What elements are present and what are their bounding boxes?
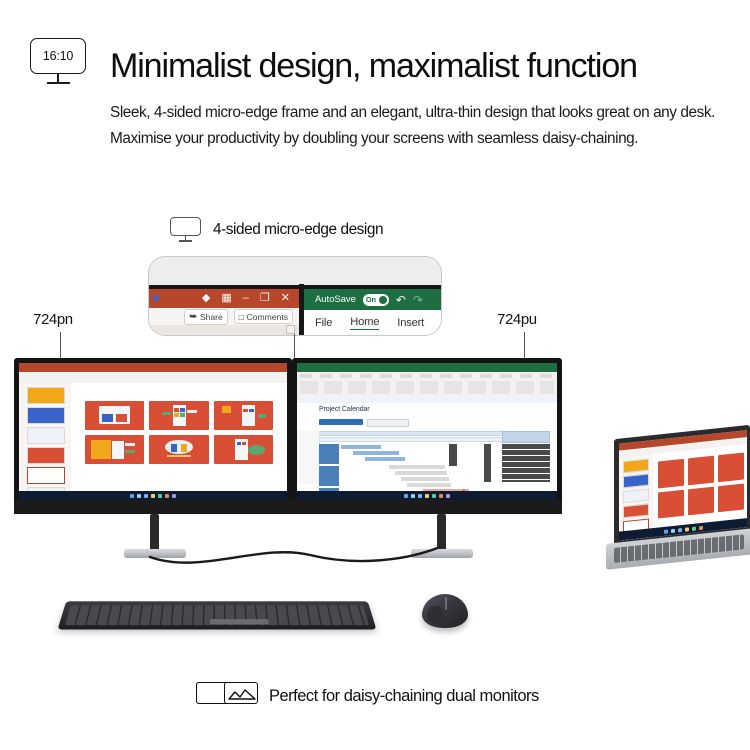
monitor-right-panel: Project Calendar <box>297 363 557 500</box>
laptop-lid <box>614 425 750 547</box>
slide-thumb[interactable] <box>658 489 684 518</box>
autosave-toggle[interactable]: On <box>363 294 389 306</box>
powerpoint-scroll-strip <box>149 325 299 335</box>
model-label-left: 724pn <box>33 311 73 328</box>
monitor-icon-screen <box>170 217 201 236</box>
slide-thumb[interactable] <box>214 401 273 430</box>
phase-one-label <box>319 444 339 464</box>
column-block <box>484 444 491 482</box>
phase-two-label <box>319 466 339 486</box>
footer-caption: Perfect for daisy-chaining dual monitors <box>196 682 539 710</box>
gantt-bar <box>389 465 445 469</box>
windows-taskbar[interactable] <box>297 491 557 500</box>
screen-excel: Project Calendar <box>297 363 557 500</box>
redo-icon[interactable]: ↷ <box>413 293 423 307</box>
list-item[interactable] <box>623 473 649 488</box>
monitor-right-chin <box>292 500 562 514</box>
slide-editor-area <box>71 383 287 490</box>
slide-thumb[interactable] <box>658 459 684 488</box>
mouse-scroll-wheel[interactable] <box>445 597 447 610</box>
slide-thumb[interactable] <box>85 401 144 430</box>
keyboard[interactable] <box>58 601 377 629</box>
page-description: Sleek, 4-sided micro-edge frame and an e… <box>110 100 720 151</box>
powerpoint-share-row: ⮩ Share □ Comments <box>149 308 299 325</box>
micro-edge-label-text: 4-sided micro-edge design <box>213 221 383 239</box>
image-glyph-right <box>225 683 258 704</box>
excel-ribbon <box>297 372 557 399</box>
page-title: Minimalist design, maximalist function <box>110 46 730 86</box>
laptop-slide-grid <box>658 452 744 518</box>
list-item[interactable] <box>623 458 649 473</box>
comment-icon: □ <box>239 312 244 322</box>
toggle-knob <box>379 296 387 304</box>
cursor-dot-icon <box>153 295 159 301</box>
share-icon: ⮩ <box>189 311 197 322</box>
tab-home[interactable]: Home <box>350 316 379 330</box>
gantt-bar <box>401 477 449 481</box>
start-week-button[interactable] <box>319 419 363 425</box>
monitor-icon-screen: 16:10 <box>30 38 86 74</box>
powerpoint-titlebar: ◆ ▦ – ❐ ✕ <box>149 289 299 308</box>
callout-excel-side: AutoSave On ↶ ↷ File Home Insert <box>301 257 441 335</box>
poster-canvas: 16:10 Minimalist design, maximalist func… <box>0 0 750 750</box>
dual-monitor-icon-right <box>224 682 258 704</box>
autosave-label: AutoSave <box>315 294 356 305</box>
micro-edge-zoom-panel: ◆ ▦ – ❐ ✕ ⮩ Share □ Comments <box>148 256 442 336</box>
slide-thumb[interactable] <box>214 435 273 464</box>
scroll-up-button[interactable] <box>286 325 295 334</box>
slide-thumb[interactable] <box>688 486 714 515</box>
excel-titlebar <box>297 363 557 372</box>
callout-powerpoint-side: ◆ ▦ – ❐ ✕ ⮩ Share □ Comments <box>149 257 299 335</box>
laptop-thumbnail-pane <box>619 454 654 533</box>
comments-label: Comments <box>246 312 288 322</box>
laptop-slide-area <box>653 444 747 529</box>
excel-sheet: Project Calendar <box>297 403 557 490</box>
spacebar[interactable] <box>210 619 269 624</box>
model-label-right: 724pu <box>497 311 537 328</box>
monitor-icon <box>170 217 204 243</box>
list-item[interactable] <box>623 488 649 503</box>
list-item[interactable] <box>27 467 65 484</box>
monitor-left-panel <box>19 363 287 500</box>
comments-button[interactable]: □ Comments <box>234 309 293 324</box>
micro-edge-seam <box>299 284 304 335</box>
gantt-bar <box>365 457 405 461</box>
tab-insert[interactable]: Insert <box>397 317 424 329</box>
today-marker <box>449 444 457 466</box>
list-item[interactable] <box>27 447 65 464</box>
share-button[interactable]: ⮩ Share <box>184 309 227 325</box>
present-icon[interactable]: ▦ <box>221 293 231 304</box>
gantt-bar <box>353 451 399 455</box>
date-button[interactable] <box>367 419 409 427</box>
autosave-state: On <box>366 295 376 304</box>
gantt-bar <box>407 483 451 487</box>
selected-range <box>502 431 550 443</box>
slide-thumb[interactable] <box>718 452 744 481</box>
slide-grid <box>85 401 273 464</box>
monitor-left <box>14 358 292 514</box>
gantt-bar <box>341 445 381 449</box>
slide-thumb[interactable] <box>85 435 144 464</box>
slide-thumb[interactable] <box>149 401 208 430</box>
monitor-right: Project Calendar <box>292 358 562 514</box>
mouse[interactable] <box>418 592 470 632</box>
minimize-icon[interactable]: – <box>243 293 249 304</box>
undo-icon[interactable]: ↶ <box>396 293 406 307</box>
aspect-ratio-monitor-icon: 16:10 <box>30 38 88 90</box>
slide-thumbnail-pane <box>19 383 72 490</box>
monitor-left-chin <box>14 500 292 514</box>
powerpoint-titlebar <box>19 363 287 372</box>
excel-titlebar: AutoSave On ↶ ↷ <box>301 289 441 310</box>
monitor-icon-base <box>47 82 70 84</box>
laptop <box>600 432 750 582</box>
sheet-title: Project Calendar <box>319 406 370 413</box>
tab-file[interactable]: File <box>315 317 332 329</box>
restore-icon[interactable]: ❐ <box>260 293 270 304</box>
laptop-screen <box>619 430 747 540</box>
micro-edge-callout-label: 4-sided micro-edge design <box>170 217 383 243</box>
list-item[interactable] <box>27 427 65 444</box>
aspect-ratio-label: 16:10 <box>43 49 73 63</box>
row-gutter <box>297 431 320 484</box>
callout-leader-line <box>294 334 295 360</box>
list-item[interactable] <box>27 387 65 404</box>
slide-thumb[interactable] <box>718 483 744 512</box>
screen-powerpoint <box>19 363 287 500</box>
excel-ribbon-tabs: File Home Insert <box>301 310 441 335</box>
close-icon[interactable]: ✕ <box>281 293 290 304</box>
list-item[interactable] <box>623 503 649 518</box>
gantt-bar <box>395 471 447 475</box>
diamond-icon[interactable]: ◆ <box>202 293 210 304</box>
footer-text: Perfect for daisy-chaining dual monitors <box>269 687 539 706</box>
model-leader-line-left <box>60 332 61 360</box>
daisy-chain-cable <box>140 535 460 575</box>
dual-monitor-icon <box>196 682 258 710</box>
model-leader-line-right <box>524 332 525 360</box>
monitor-icon-base <box>179 240 192 242</box>
share-label: Share <box>200 312 223 322</box>
slide-thumb[interactable] <box>688 456 714 485</box>
mouse-thumb-rest <box>427 606 443 624</box>
slide-thumb[interactable] <box>149 435 208 464</box>
data-block <box>502 444 550 482</box>
list-item[interactable] <box>27 407 65 424</box>
windows-taskbar[interactable] <box>19 491 287 500</box>
